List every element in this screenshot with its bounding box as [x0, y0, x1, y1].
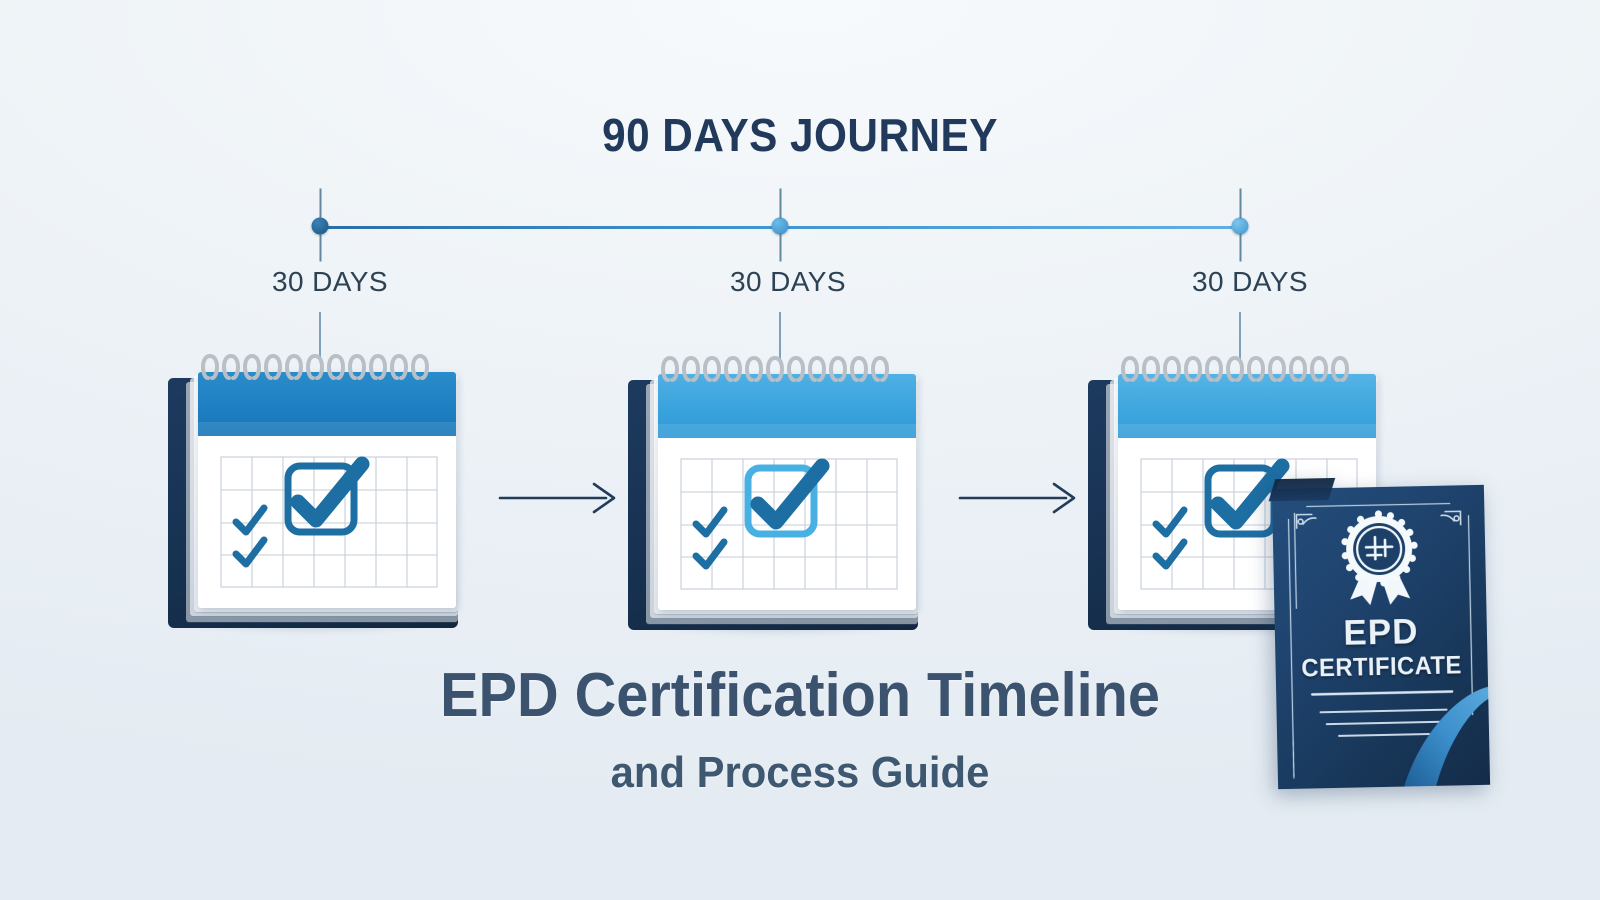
infographic-canvas: 90 DAYS JOURNEY 30 DAYS 30 DAYS 30 DAYS: [0, 0, 1600, 900]
arrow-phase-1-to-2: [498, 478, 622, 518]
certificate-title: EPD: [1275, 613, 1488, 652]
timeline-tick-down-2: [779, 234, 781, 262]
timeline-label-1: 30 DAYS: [272, 266, 388, 298]
calendar-spiral-rings: [620, 350, 920, 386]
calendar-checkmarks: [220, 450, 438, 592]
timeline-node-2[interactable]: [772, 218, 789, 235]
timeline-tick-up-1: [319, 189, 321, 219]
timeline-tick-down-3: [1239, 234, 1241, 262]
timeline-tick-up-3: [1239, 189, 1241, 219]
timeline-label-2: 30 DAYS: [730, 266, 846, 298]
calendar-phase-1[interactable]: [160, 360, 460, 640]
calendar-front-sheet: [198, 372, 456, 608]
epd-certificate[interactable]: EPD CERTIFICATE: [1272, 485, 1490, 789]
timeline-dot-3[interactable]: [1232, 218, 1249, 235]
journey-title: 90 DAYS JOURNEY: [64, 108, 1536, 162]
timeline-node-1[interactable]: [312, 218, 329, 235]
calendar-front-sheet: [658, 374, 916, 610]
timeline-dot-1[interactable]: [312, 218, 329, 235]
calendar-spiral-rings: [1080, 350, 1380, 386]
timeline-tick-up-2: [779, 189, 781, 219]
calendar-spiral-rings: [160, 348, 460, 384]
calendar-checkmarks: [680, 452, 898, 594]
timeline-dot-2[interactable]: [772, 218, 789, 235]
page-title: EPD Certification Timeline: [56, 660, 1544, 731]
arrow-phase-2-to-3: [958, 478, 1082, 518]
timeline-node-3[interactable]: [1232, 218, 1249, 235]
timeline-label-3: 30 DAYS: [1192, 266, 1308, 298]
page-subtitle: and Process Guide: [40, 748, 1560, 798]
calendar-phase-2[interactable]: [620, 362, 920, 642]
timeline-tick-down-1: [319, 234, 321, 262]
